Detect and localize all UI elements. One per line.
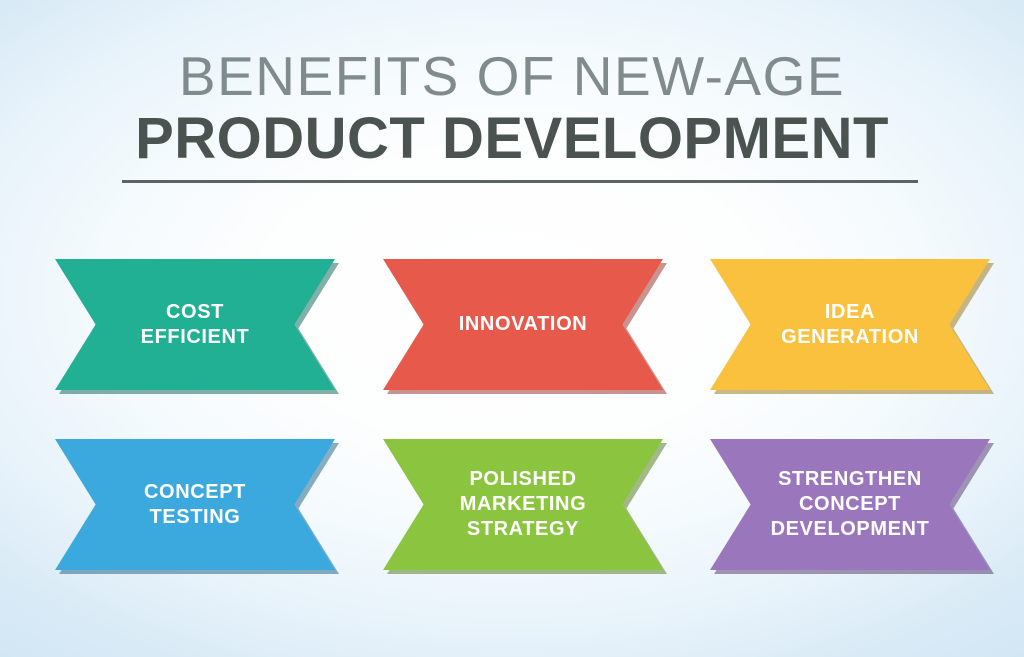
banner-cost-efficient[interactable]: COST EFFICIENT xyxy=(55,259,335,390)
banner-label: INNOVATION xyxy=(383,259,663,390)
title-line-secondary: PRODUCT DEVELOPMENT xyxy=(0,108,1024,170)
title-line-primary: BENEFITS OF NEW-AGE xyxy=(0,46,1024,106)
banner-label: COST EFFICIENT xyxy=(55,259,335,390)
infographic-canvas: BENEFITS OF NEW-AGE PRODUCT DEVELOPMENT … xyxy=(0,0,1024,657)
banner-concept-testing[interactable]: CONCEPT TESTING xyxy=(55,439,335,570)
banner-polished-marketing-strategy[interactable]: POLISHED MARKETING STRATEGY xyxy=(383,439,663,570)
banner-label: CONCEPT TESTING xyxy=(55,439,335,570)
page-title: BENEFITS OF NEW-AGE PRODUCT DEVELOPMENT xyxy=(0,46,1024,170)
banner-label: POLISHED MARKETING STRATEGY xyxy=(383,439,663,570)
banner-innovation[interactable]: INNOVATION xyxy=(383,259,663,390)
banner-label: STRENGTHEN CONCEPT DEVELOPMENT xyxy=(710,439,990,570)
banner-idea-generation[interactable]: IDEA GENERATION xyxy=(710,259,990,390)
title-underline-divider xyxy=(122,180,918,183)
banner-strengthen-concept-development[interactable]: STRENGTHEN CONCEPT DEVELOPMENT xyxy=(710,439,990,570)
banner-label: IDEA GENERATION xyxy=(710,259,990,390)
